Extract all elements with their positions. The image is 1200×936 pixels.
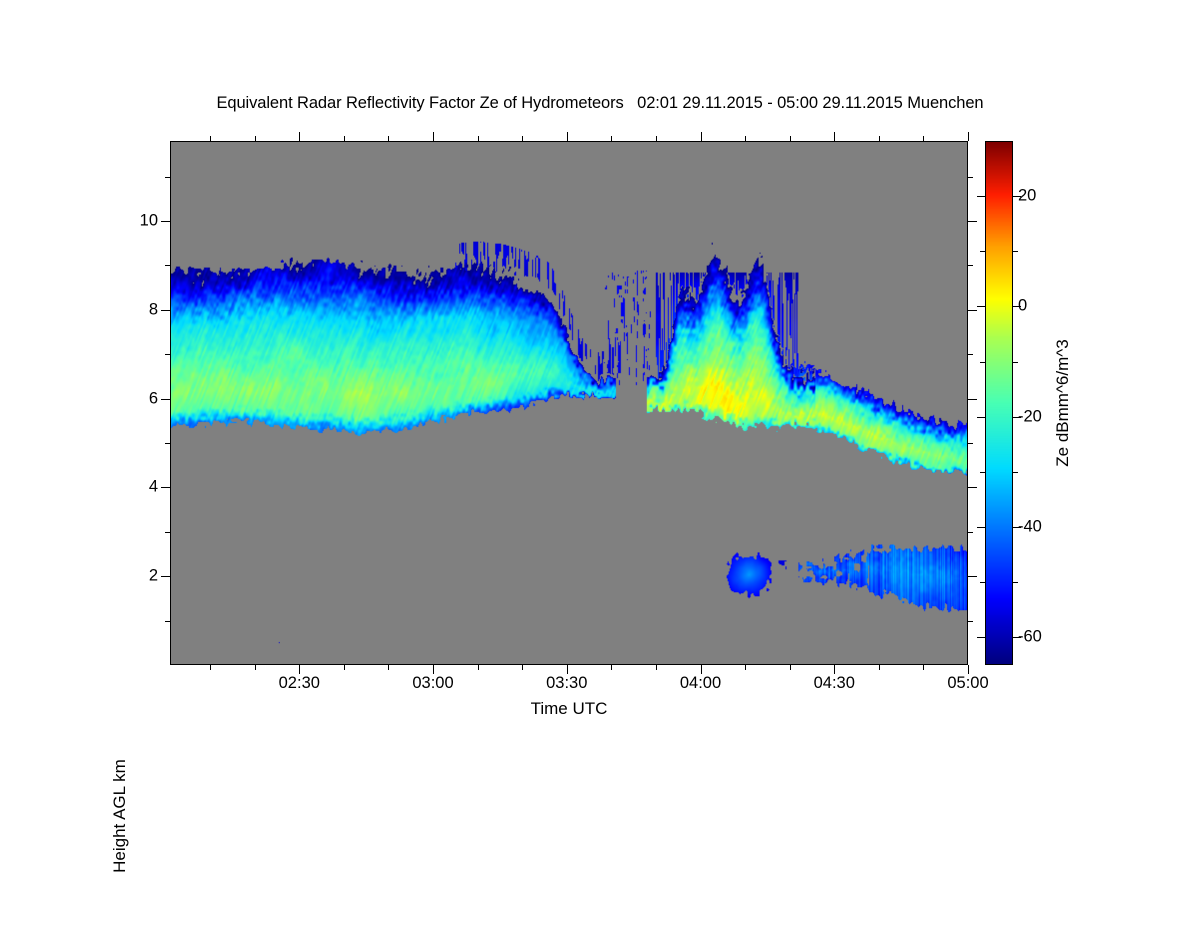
x-axis-tick	[255, 665, 256, 670]
y-axis-tick	[165, 532, 170, 533]
page-title: Equivalent Radar Reflectivity Factor Ze …	[0, 94, 1200, 113]
y-axis-tick	[968, 265, 973, 266]
x-axis-tick	[478, 665, 479, 670]
plot-area[interactable]	[170, 141, 968, 665]
y-axis-tick	[161, 310, 170, 311]
colorbar-tick-label: 0	[1018, 297, 1027, 316]
y-axis-tick	[968, 443, 973, 444]
y-axis-tick	[1013, 582, 1018, 583]
x-tick-label: 04:30	[814, 674, 855, 693]
x-axis-tick	[255, 136, 256, 141]
y-axis-tick	[1013, 472, 1018, 473]
y-axis-tick	[968, 310, 977, 311]
x-axis-tick	[567, 665, 568, 674]
y-axis-tick	[1013, 362, 1018, 363]
x-axis-tick	[790, 665, 791, 670]
x-axis-tick	[567, 132, 568, 141]
x-axis-tick	[879, 665, 880, 670]
y-axis-tick	[165, 443, 170, 444]
x-axis-tick	[299, 132, 300, 141]
y-axis-tick	[968, 487, 977, 488]
y-axis-tick	[161, 399, 170, 400]
y-axis-tick	[968, 221, 977, 222]
y-axis-tick	[977, 196, 985, 197]
x-axis-label: Time UTC	[170, 699, 968, 719]
x-axis-tick	[433, 665, 434, 674]
x-axis-tick	[299, 665, 300, 674]
x-axis-tick	[701, 132, 702, 141]
y-axis-tick	[968, 354, 973, 355]
x-axis-tick	[344, 665, 345, 670]
x-axis-tick	[388, 665, 389, 670]
y-tick-label: 2	[108, 567, 158, 586]
y-axis-tick	[968, 532, 973, 533]
y-tick-label: 6	[108, 389, 158, 408]
x-axis-tick	[210, 665, 211, 670]
x-axis-tick	[968, 665, 969, 674]
colorbar-tick-label: -20	[1018, 407, 1042, 426]
colorbar-tick-label: -40	[1018, 518, 1042, 537]
x-tick-label: 02:30	[279, 674, 320, 693]
colorbar-gradient	[986, 142, 1012, 664]
x-axis-tick	[968, 132, 969, 141]
x-axis-tick	[834, 132, 835, 141]
x-axis-tick	[522, 665, 523, 670]
y-tick-label: 4	[108, 478, 158, 497]
colorbar-tick-label: 20	[1018, 187, 1036, 206]
x-axis-tick	[433, 132, 434, 141]
x-tick-label: 05:00	[947, 674, 988, 693]
x-axis-tick	[344, 136, 345, 141]
x-axis-tick	[388, 136, 389, 141]
radar-reflectivity-figure: Equivalent Radar Reflectivity Factor Ze …	[0, 0, 1200, 800]
y-axis-tick	[165, 354, 170, 355]
x-axis-tick	[745, 665, 746, 670]
y-axis-tick	[977, 417, 985, 418]
x-axis-tick	[611, 665, 612, 670]
y-axis-tick	[1013, 251, 1018, 252]
y-axis-tick	[968, 576, 977, 577]
y-axis-tick	[977, 637, 985, 638]
y-axis-tick	[977, 527, 985, 528]
y-axis-tick	[161, 221, 170, 222]
y-axis-tick	[161, 487, 170, 488]
x-tick-label: 03:30	[546, 674, 587, 693]
colorbar-label: Ze dBmm^6/m^3	[1053, 253, 1073, 553]
x-axis-tick	[923, 665, 924, 670]
x-axis-tick	[522, 136, 523, 141]
y-axis-tick	[968, 399, 977, 400]
colorbar[interactable]	[985, 141, 1013, 665]
x-axis-tick	[923, 136, 924, 141]
y-axis-tick	[165, 177, 170, 178]
y-axis-tick	[165, 621, 170, 622]
y-axis-tick	[161, 576, 170, 577]
x-axis-tick	[834, 665, 835, 674]
y-axis-tick	[968, 621, 973, 622]
x-axis-tick	[478, 136, 479, 141]
x-axis-tick	[790, 136, 791, 141]
x-axis-tick	[879, 136, 880, 141]
x-axis-tick	[656, 136, 657, 141]
x-tick-label: 04:00	[680, 674, 721, 693]
y-tick-label: 10	[108, 211, 158, 230]
y-axis-tick	[968, 177, 973, 178]
reflectivity-heatmap-canvas	[171, 142, 967, 664]
y-tick-label: 8	[108, 300, 158, 319]
x-axis-tick	[210, 136, 211, 141]
x-tick-label: 03:00	[412, 674, 453, 693]
x-axis-tick	[656, 665, 657, 670]
y-axis-tick	[977, 306, 985, 307]
y-axis-tick	[165, 265, 170, 266]
colorbar-tick-label: -60	[1018, 628, 1042, 647]
y-axis-label: Height AGL km	[110, 696, 130, 936]
x-axis-tick	[701, 665, 702, 674]
x-axis-tick	[745, 136, 746, 141]
x-axis-tick	[611, 136, 612, 141]
